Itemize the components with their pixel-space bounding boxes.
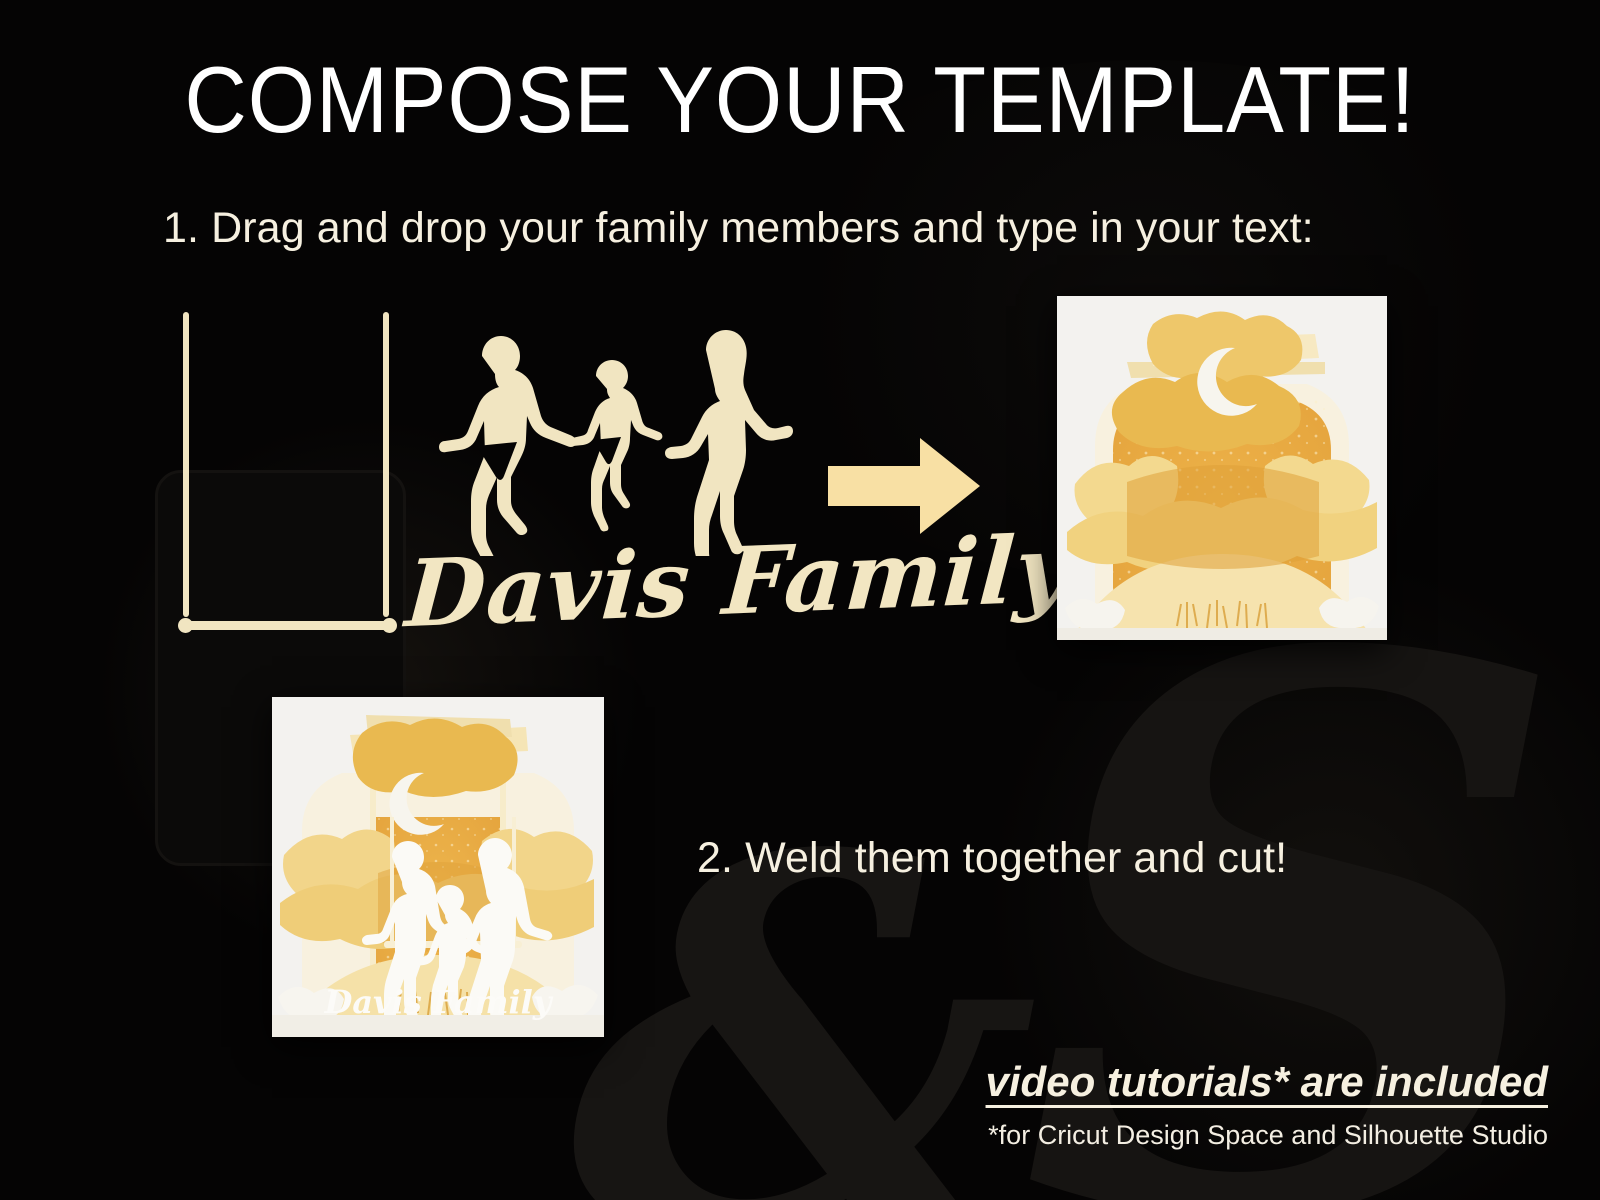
swing-knob-left — [178, 618, 193, 633]
papercut-preview-empty[interactable] — [1057, 296, 1387, 640]
preview-caption-text: Davis Family — [324, 983, 554, 1021]
promo-headline: video tutorials* are included — [986, 1058, 1548, 1106]
promo-footnote: *for Cricut Design Space and Silhouette … — [988, 1120, 1548, 1151]
swing-rope-left — [183, 312, 189, 617]
swing-frame[interactable] — [180, 312, 395, 630]
arrow-right-icon — [828, 438, 980, 534]
child-silhouette — [568, 360, 662, 531]
step-2-instruction: 2. Weld them together and cut! — [697, 834, 1287, 883]
swing-rope-right — [383, 312, 389, 617]
father-silhouette — [439, 336, 576, 556]
swing-knob-right — [382, 618, 397, 633]
poster-canvas: S & COMPOSE YOUR TEMPLATE! 1. Drag and d… — [0, 0, 1600, 1200]
papercut-preview-finished[interactable]: Davis Family — [272, 697, 604, 1037]
mother-silhouette — [665, 330, 793, 556]
family-silhouette-group[interactable] — [420, 318, 800, 556]
swing-seat — [180, 621, 395, 630]
step-1-instruction: 1. Drag and drop your family members and… — [163, 204, 1314, 253]
page-title: COMPOSE YOUR TEMPLATE! — [64, 46, 1536, 154]
